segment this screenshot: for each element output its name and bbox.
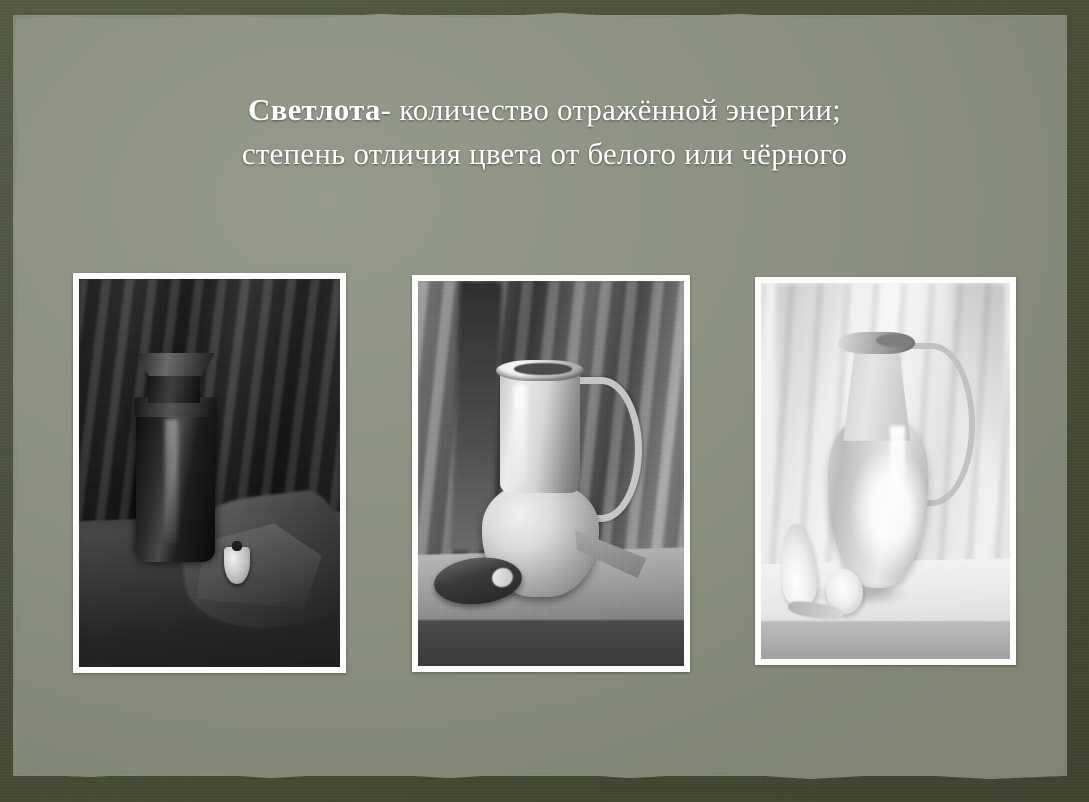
title-line-2: степень отличия цвета от белого или чёрн… [0, 132, 1089, 176]
still-life-canvas-light [761, 283, 1010, 659]
still-life-canvas-midtone [418, 281, 684, 666]
title-keyword: Светлота [248, 92, 381, 127]
still-life-image-light[interactable] [755, 277, 1016, 665]
still-life-image-midtone[interactable] [412, 275, 690, 672]
still-life-image-dark[interactable] [73, 273, 346, 673]
still-life-canvas-dark [79, 279, 340, 667]
pitcher-rim-interior [514, 363, 573, 375]
pitcher-neck [500, 370, 580, 493]
salt-shaker-cap [232, 541, 242, 550]
salt-shaker [224, 547, 250, 584]
table-front-edge [761, 621, 1010, 659]
glass-jar-highlight [165, 419, 178, 543]
pitcher-spout-interior [876, 334, 913, 347]
pitcher-highlight [514, 385, 527, 485]
title-line-1-rest: - количество отражённой энергии; [381, 92, 841, 127]
slide-canvas: Светлота- количество отражённой энергии;… [0, 0, 1089, 802]
title-line-1: Светлота- количество отражённой энергии; [0, 88, 1089, 132]
pitcher-highlight [890, 426, 905, 516]
glass-jar-lip [136, 353, 214, 376]
slide-title: Светлота- количество отражённой энергии;… [0, 88, 1089, 176]
table-front-edge [418, 620, 684, 666]
